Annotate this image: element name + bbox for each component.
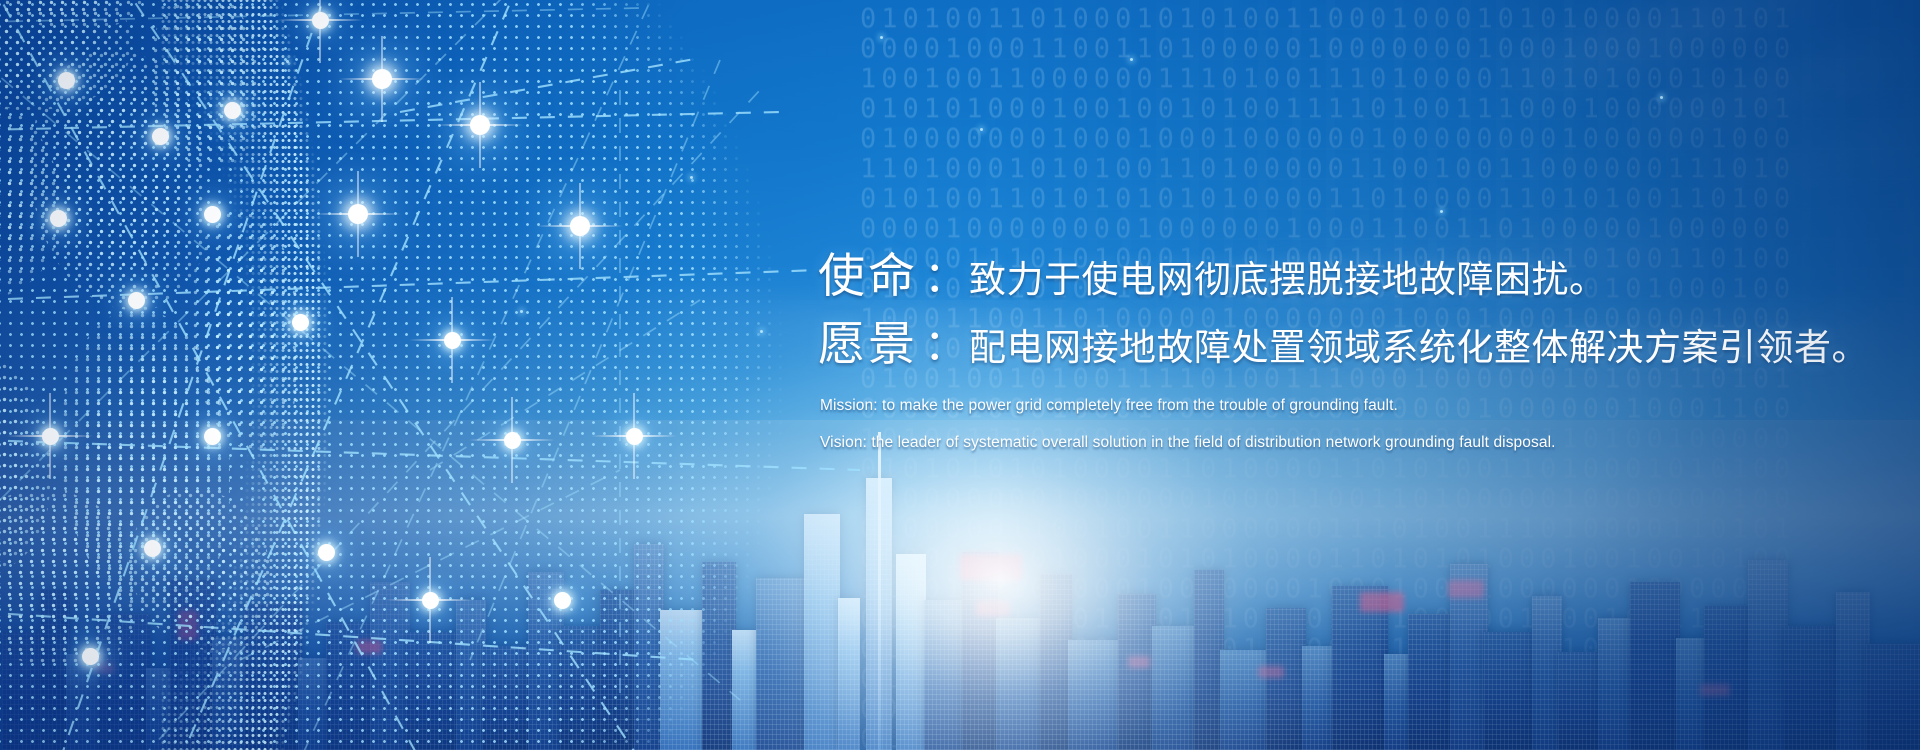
- english-translations: Mission: to make the power grid complete…: [818, 398, 1908, 450]
- mission-english: Mission: to make the power grid complete…: [820, 398, 1908, 414]
- mission-colon: ：: [918, 254, 969, 302]
- mission-text: 致力于使电网彻底摆脱接地故障困扰。: [969, 259, 1607, 300]
- vision-statement: 愿景：配电网接地故障处置领域系统化整体解决方案引领者。: [818, 320, 1908, 368]
- mission-vision-copy: 使命：致力于使电网彻底摆脱接地故障困扰。 愿景：配电网接地故障处置领域系统化整体…: [818, 252, 1908, 450]
- vision-text: 配电网接地故障处置领域系统化整体解决方案引领者。: [969, 327, 1869, 368]
- vision-colon: ：: [918, 322, 969, 370]
- vision-label: 愿景: [818, 317, 918, 370]
- vision-english: Vision: the leader of systematic overall…: [820, 435, 1908, 451]
- hero-banner: 0101001101000101010011000100010101000011…: [0, 0, 1920, 750]
- mission-statement: 使命：致力于使电网彻底摆脱接地故障困扰。: [818, 252, 1908, 300]
- mission-label: 使命: [818, 249, 918, 302]
